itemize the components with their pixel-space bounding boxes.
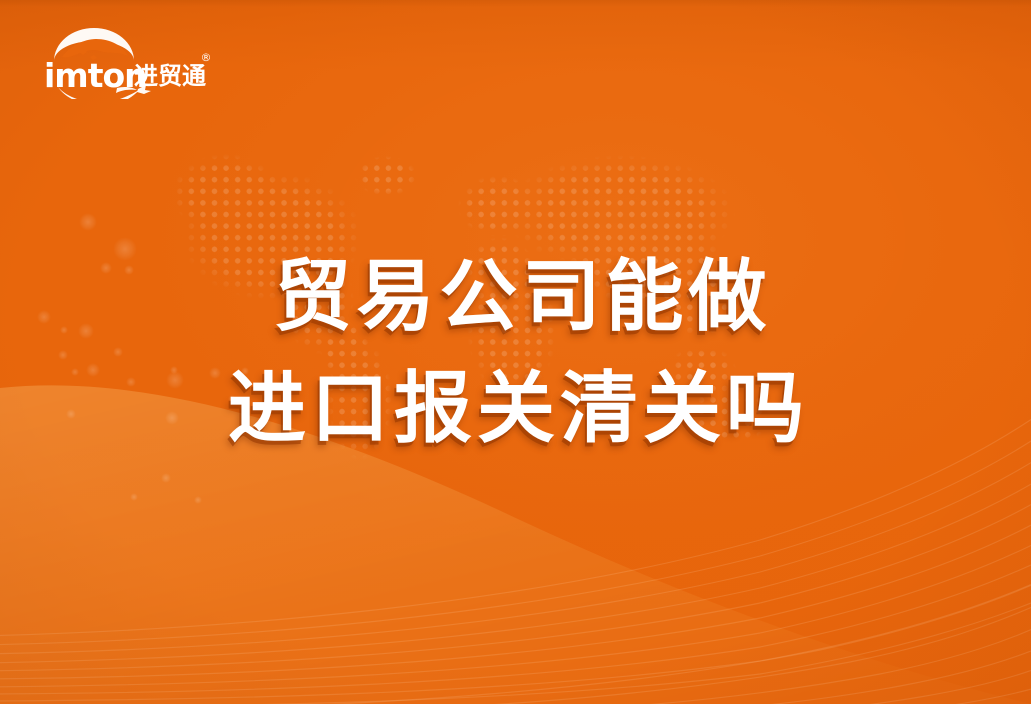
registered-trademark-icon: ® [201, 51, 212, 64]
imton-logo[interactable]: imton 进贸通 ® [42, 27, 214, 99]
page-title: 贸易公司能做 进口报关清关吗 [0, 258, 1031, 448]
headline-line-1: 贸易公司能做 [14, 258, 1031, 336]
poster-canvas: imton 进贸通 ® 贸易公司能做 进口报关清关吗 [0, 0, 1031, 704]
headline-line-2: 进口报关清关吗 [6, 370, 1031, 448]
